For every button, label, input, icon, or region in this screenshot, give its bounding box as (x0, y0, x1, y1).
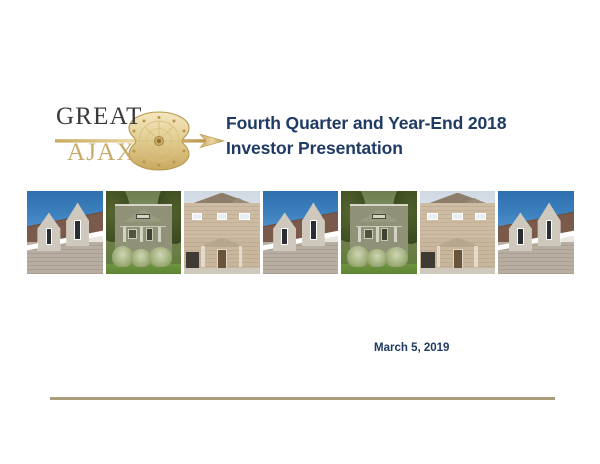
photo-tan-two-story-home (184, 191, 260, 274)
photo-dormer-house-blue-sky (263, 191, 339, 274)
page-title: Fourth Quarter and Year-End 2018 Investo… (226, 111, 566, 161)
title-line-2: Investor Presentation (226, 136, 566, 161)
photo-dormer-house-blue-sky (27, 191, 103, 274)
title-line-1: Fourth Quarter and Year-End 2018 (226, 111, 566, 136)
presentation-date: March 5, 2019 (374, 342, 449, 354)
photo-green-craftsman-garden (106, 191, 182, 274)
presentation-title-slide: GREAT AJAX Fourth Quarter and Year-End 2… (0, 0, 600, 464)
logo-word-great: GREAT (56, 104, 143, 129)
photo-green-craftsman-garden (341, 191, 417, 274)
photo-tan-two-story-home (420, 191, 496, 274)
logo-word-ajax: AJAX (67, 140, 136, 165)
footer-divider-rule (50, 397, 555, 400)
photo-dormer-house-blue-sky (498, 191, 574, 274)
property-photo-strip (27, 191, 574, 274)
company-logo: GREAT AJAX (48, 104, 226, 178)
